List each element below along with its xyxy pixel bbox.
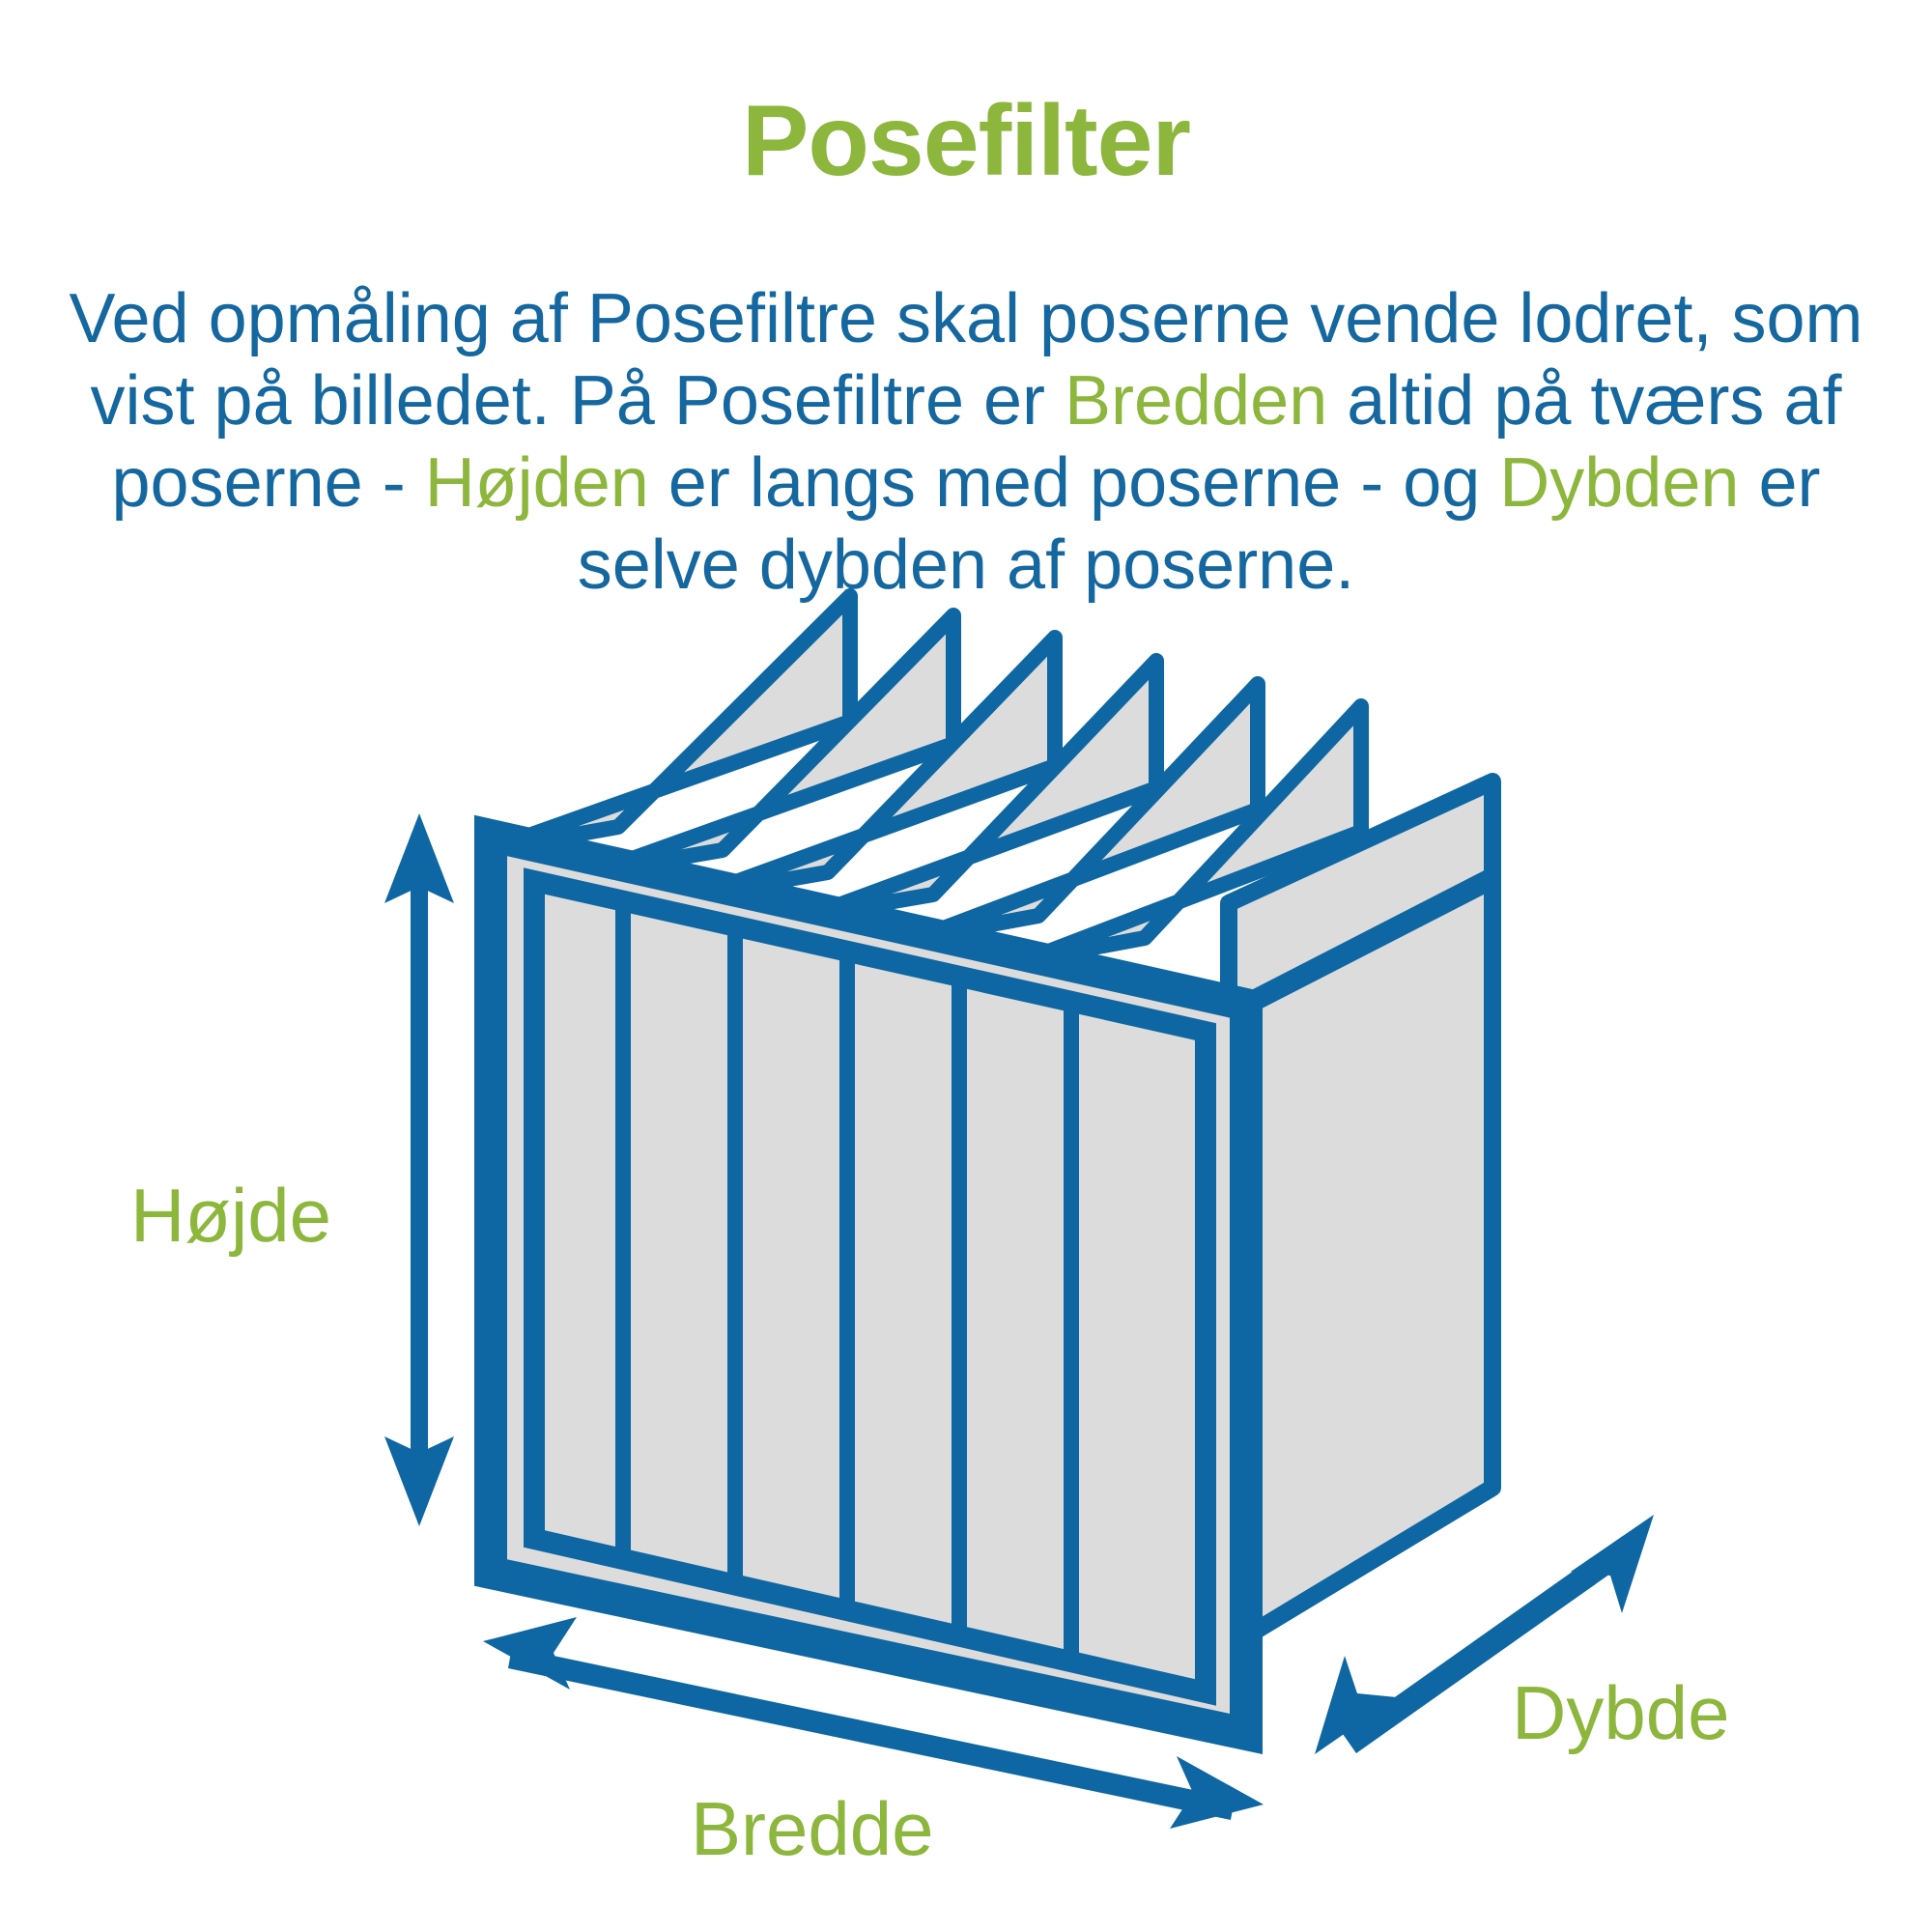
depth-label: Dybde [1512, 1670, 1729, 1755]
bag-filter-diagram: Højde Bredde Dybde [0, 0, 1932, 1932]
height-label: Højde [130, 1173, 331, 1258]
filter-right-side-face [1229, 781, 1492, 1647]
width-label: Bredde [691, 1786, 934, 1871]
height-arrow [384, 813, 454, 1526]
filter-inner-frame [534, 881, 1206, 1692]
page-root: Posefilter Ved opmåling af Posefiltre sk… [0, 0, 1932, 1932]
bag-panel-1 [488, 596, 850, 850]
